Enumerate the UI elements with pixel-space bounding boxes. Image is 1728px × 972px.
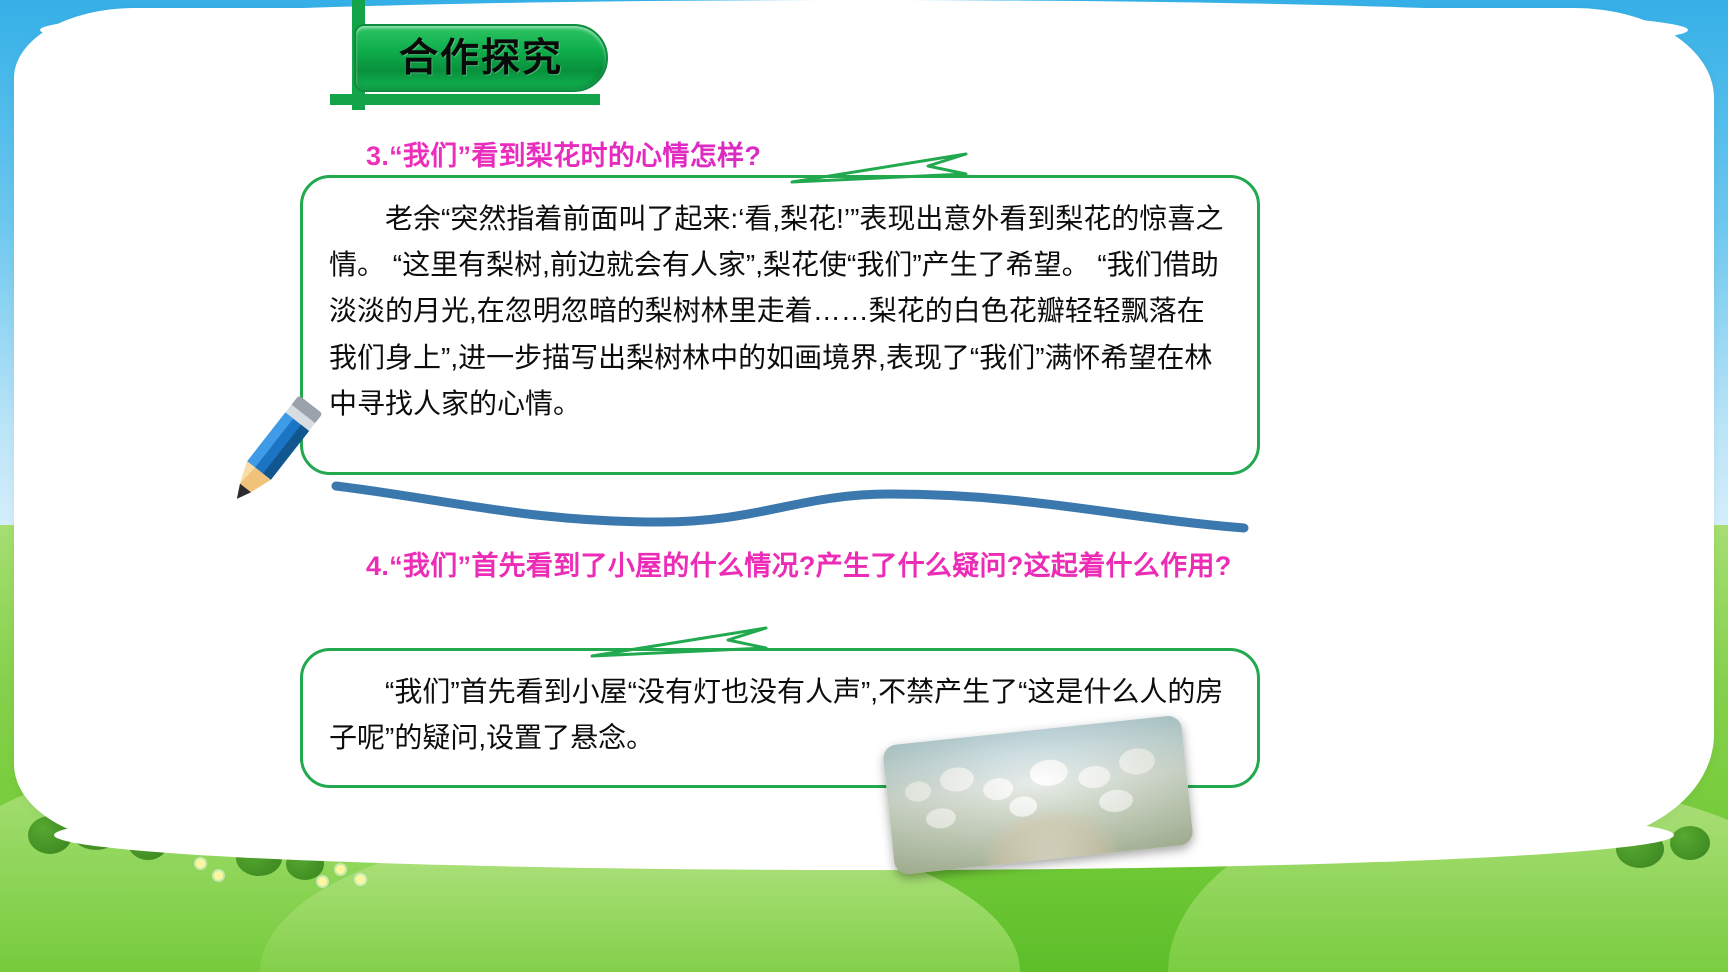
question-3-heading: 3.“我们”看到梨花时的心情怎样? xyxy=(366,135,1326,179)
title-banner: 合作探究 xyxy=(354,24,608,92)
flower-icon xyxy=(196,859,205,868)
question-4-heading: 4.“我们”首先看到了小屋的什么情况?产生了什么疑问?这起着什么作用? xyxy=(366,545,1316,589)
answer-3-text: 老余“突然指着前面叫了起来:‘看,梨花!’”表现出意外看到梨花的惊喜之情。 “这… xyxy=(329,196,1227,427)
flower-icon xyxy=(356,875,365,884)
slide-canvas: 合作探究 3.“我们”看到梨花时的心情怎样? 老余“突然指着前面叫了起来:‘看,… xyxy=(0,0,1728,972)
flower-icon xyxy=(336,865,345,874)
pencil-icon xyxy=(206,392,336,512)
flower-icon xyxy=(318,877,327,886)
page-title: 合作探究 xyxy=(399,39,563,78)
green-cross-horizontal-icon xyxy=(330,94,600,105)
flower-icon xyxy=(214,871,223,880)
shrub-icon xyxy=(1670,826,1710,860)
blue-wave-divider-icon xyxy=(330,478,1250,536)
answer-box-1: 老余“突然指着前面叫了起来:‘看,梨花!’”表现出意外看到梨花的惊喜之情。 “这… xyxy=(300,175,1260,475)
title-banner-group: 合作探究 xyxy=(330,0,660,120)
